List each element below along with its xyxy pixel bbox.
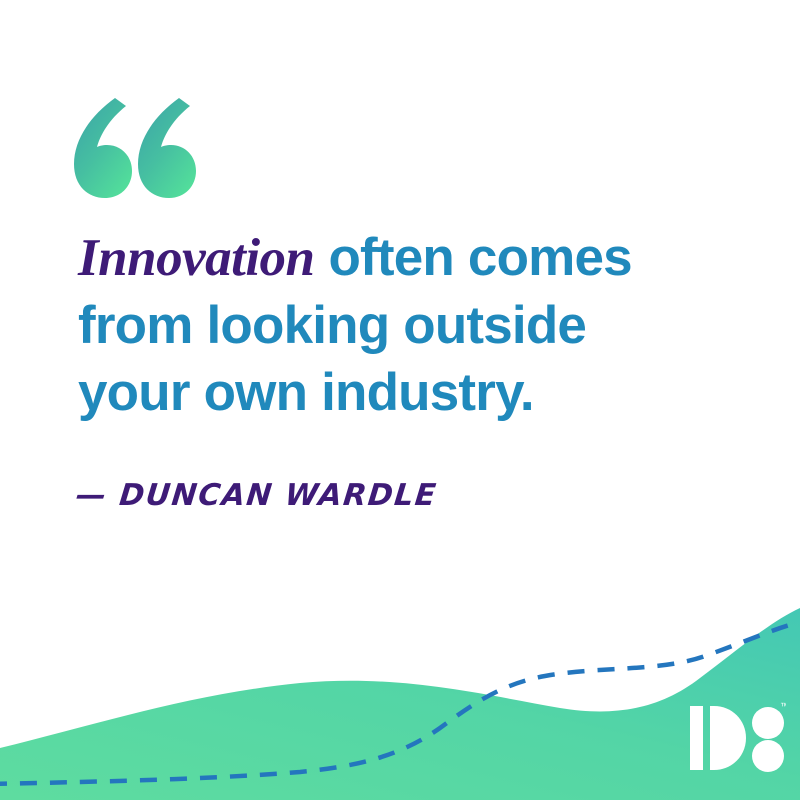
quote-attribution: — DUNCAN WARDLE (74, 478, 439, 513)
quote-line-1-rest: often comes (315, 228, 632, 287)
logo-dot-bottom (752, 740, 784, 772)
quote-highlight-word: Innovation (78, 229, 315, 287)
quote-text: Innovation often comes from looking outs… (78, 224, 758, 426)
quote-card: Innovation often comes from looking outs… (0, 0, 800, 800)
logo-dot-top (752, 707, 784, 739)
quote-line-2: from looking outside (78, 292, 758, 359)
quote-line-1: Innovation often comes (78, 224, 758, 292)
logo-trademark: ™ (780, 701, 786, 711)
quote-line-3: your own industry. (78, 359, 758, 426)
logo-bar (690, 706, 703, 770)
wave-shape (0, 608, 800, 800)
ideas-logo[interactable]: ™ (690, 700, 786, 776)
logo-d-shape (710, 706, 746, 770)
dashed-path (0, 622, 800, 784)
double-quote-icon (68, 92, 198, 202)
